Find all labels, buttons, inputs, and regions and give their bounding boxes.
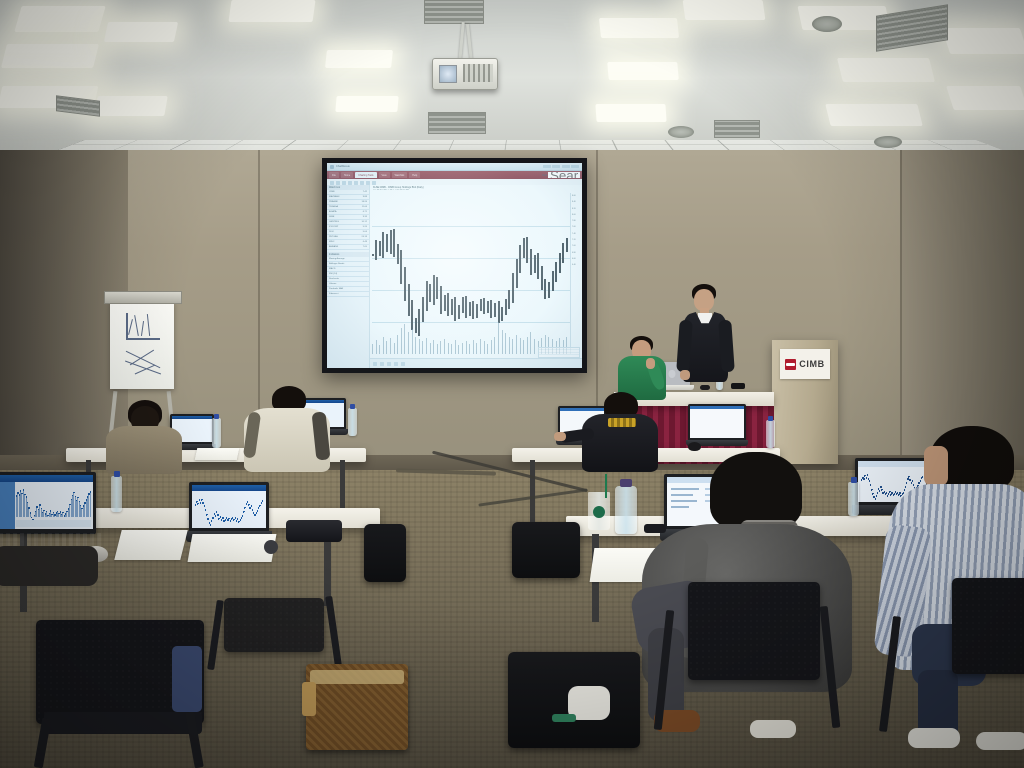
laptop-chart-point xyxy=(866,477,867,478)
volume-bar xyxy=(376,340,377,354)
laptop-chart-point xyxy=(197,503,198,504)
candlestick xyxy=(433,282,434,298)
candlestick xyxy=(498,306,499,318)
volume-bar xyxy=(458,345,459,354)
laptop-chart-point xyxy=(218,518,219,519)
starbucks-logo-icon xyxy=(593,506,605,518)
ribbon-tab-home[interactable]: Home xyxy=(341,172,353,178)
candlestick xyxy=(559,257,560,268)
candlestick xyxy=(422,303,423,316)
chair-seat[interactable] xyxy=(44,712,202,734)
sketch-trendline xyxy=(126,351,161,369)
candlestick xyxy=(401,258,402,276)
ceiling-light-panel xyxy=(104,22,178,42)
sketch-stroke xyxy=(134,315,139,336)
laptop-case[interactable] xyxy=(286,520,342,542)
chart-data-window xyxy=(538,347,580,358)
projection-screen-surface: ChartNexus File Home Charting Tools View… xyxy=(327,163,582,368)
laptop-chart-point xyxy=(30,512,31,513)
laptop-chart-point xyxy=(53,512,54,513)
laptop-chart-point xyxy=(226,517,227,518)
computer-mouse[interactable] xyxy=(688,442,701,451)
projector-cable xyxy=(458,22,464,62)
laptop-chart-point xyxy=(60,511,61,512)
candlestick xyxy=(383,239,384,253)
handbag-flap-trim xyxy=(310,670,404,684)
laptop-chart-point xyxy=(240,519,241,520)
app-window-title: ChartNexus xyxy=(336,165,350,168)
laptop-chart-point xyxy=(202,502,203,503)
volume-bar xyxy=(491,340,492,354)
chart-statusbar[interactable] xyxy=(370,358,582,368)
laptop-chart-point xyxy=(221,519,222,520)
shoe xyxy=(908,728,960,748)
volume-bar xyxy=(372,344,373,354)
ceiling-light-panel xyxy=(94,96,168,116)
handbag[interactable] xyxy=(306,664,408,750)
laptop-chart-point xyxy=(235,517,236,518)
ribbon-tab-file[interactable]: File xyxy=(329,172,339,178)
volume-bar xyxy=(448,343,449,354)
drinking-straw xyxy=(605,474,607,498)
candlestick xyxy=(509,295,510,305)
candlestick xyxy=(541,272,542,285)
laptop-chart-point xyxy=(205,509,206,510)
laptop-chart-point xyxy=(258,507,259,508)
laptop-chart-point xyxy=(26,496,27,497)
laptop-chart-point xyxy=(62,512,63,513)
laptop-chart-point xyxy=(201,499,202,500)
volume-bar xyxy=(430,343,431,354)
volume-bar xyxy=(527,337,528,354)
candlestick xyxy=(372,254,373,255)
sketch-axis xyxy=(126,338,160,340)
laptop-chart-point xyxy=(869,480,870,481)
candlestick xyxy=(408,292,409,309)
indicator-row[interactable]: Fibonacci xyxy=(327,292,369,297)
ceiling-light-panel xyxy=(599,18,679,38)
laptop-chart-point xyxy=(79,501,80,502)
podium: CIMB xyxy=(772,340,838,464)
shoe xyxy=(976,732,1024,750)
volume-bar xyxy=(520,338,521,354)
volume-bar xyxy=(484,341,485,354)
laptop-chart-point xyxy=(228,518,229,519)
candlestick xyxy=(516,266,517,282)
laptop-chart-point xyxy=(246,503,247,504)
volume-bar xyxy=(516,335,517,354)
draw-icon[interactable] xyxy=(373,362,377,366)
candlestick xyxy=(444,299,445,307)
laptop-chart-bar xyxy=(90,491,91,517)
sketch-stroke xyxy=(147,314,150,336)
air-vent-icon xyxy=(428,112,486,134)
sketch-stroke xyxy=(128,319,133,335)
laptop-chart-point xyxy=(222,517,223,518)
volume-bar xyxy=(512,339,513,354)
candlestick xyxy=(538,259,539,273)
ceiling-light-panel xyxy=(683,0,766,20)
volume-bar xyxy=(505,333,506,354)
candlestick xyxy=(527,243,528,257)
laptop-front-left[interactable] xyxy=(0,472,102,548)
candlestick xyxy=(455,303,456,316)
volume-bar xyxy=(415,337,416,354)
ceiling-light-panel xyxy=(14,6,105,32)
laptop-chart-point xyxy=(75,496,76,497)
flipchart-easel xyxy=(104,291,180,401)
candlestick xyxy=(466,301,467,313)
laptop-chart-point xyxy=(256,512,257,513)
ceiling-light-panel xyxy=(837,58,935,82)
laptop-chart-point xyxy=(259,505,260,506)
candlestick xyxy=(404,275,405,293)
watchlist-rows[interactable]: CIMB7.42MAYBANK9.88PBBANK18.26TENAGA11.0… xyxy=(327,190,369,250)
ceiling-speaker-icon xyxy=(874,136,902,148)
laptop-chart-point xyxy=(237,518,238,519)
chair-back-empty[interactable] xyxy=(224,598,324,652)
laptop-chart-point xyxy=(28,507,29,508)
price-axis: 8.608.408.208.007.807.607.407.207.006.80… xyxy=(570,193,582,354)
laptop-chart-point xyxy=(206,514,207,515)
volume-bar xyxy=(390,338,391,354)
laptop-chart-point xyxy=(80,505,81,506)
person-presenter-standing xyxy=(676,284,736,394)
laptop-chart-point xyxy=(46,511,47,512)
shoulder-graphic xyxy=(608,418,636,427)
laptop-chart-point xyxy=(211,520,212,521)
laptop-chart-point xyxy=(43,510,44,511)
laptop-chart-point xyxy=(251,505,252,506)
small-puck-device[interactable] xyxy=(264,540,278,554)
laptop-chart-point xyxy=(254,514,255,515)
app-logo-icon xyxy=(330,165,334,169)
laptop-chart-point xyxy=(212,517,213,518)
ceiling-light-panel xyxy=(825,104,922,126)
laptop-chart-point xyxy=(214,513,215,514)
cimb-wordmark: CIMB xyxy=(799,359,824,369)
ceiling-projector xyxy=(432,58,498,90)
candlestick xyxy=(523,243,524,254)
laptop-chart-point xyxy=(210,524,211,525)
candlestick xyxy=(566,242,567,249)
chart-gridline xyxy=(372,226,570,227)
water-bottle[interactable] xyxy=(111,476,122,512)
candlestick xyxy=(480,302,481,308)
flipchart-clamp xyxy=(104,291,182,304)
water-bottle[interactable] xyxy=(212,418,221,448)
volume-bar xyxy=(394,343,395,354)
volume-bar xyxy=(462,343,463,354)
starbucks-cup[interactable] xyxy=(588,492,610,530)
laptop-chart-point xyxy=(225,519,226,520)
laptop-chart-point xyxy=(23,489,24,490)
volume-bar xyxy=(487,344,488,354)
candlestick xyxy=(520,252,521,267)
volume-bar xyxy=(386,341,387,354)
laptop-chart-point xyxy=(242,515,243,516)
volume-bar xyxy=(437,344,438,354)
candlestick xyxy=(556,267,557,278)
volume-bar xyxy=(494,337,495,354)
laptop-chart-point xyxy=(20,490,21,491)
candlestick xyxy=(412,307,413,323)
candlestick xyxy=(426,288,427,304)
laptop-chart-point xyxy=(249,507,250,508)
person-attendee-tan-shirt xyxy=(106,400,182,472)
laptop-chart-point xyxy=(257,510,258,511)
volume-bar xyxy=(412,329,413,354)
volume-bar xyxy=(523,340,524,354)
volume-bar xyxy=(476,343,477,354)
chair-back[interactable] xyxy=(688,582,820,680)
air-vent-icon xyxy=(714,120,760,138)
volume-bar xyxy=(426,338,427,354)
candlestick xyxy=(419,315,420,329)
projector-body-detail xyxy=(463,64,493,82)
laptop-chart-point xyxy=(248,504,249,505)
cursor-icon[interactable] xyxy=(330,181,334,185)
candlestick xyxy=(491,304,492,314)
chart-host[interactable]: KLSE:CIMB - CIMB Group Holdings Bhd (Dai… xyxy=(370,185,582,368)
volume-bar xyxy=(455,340,456,354)
notepad[interactable] xyxy=(195,448,240,460)
candlestick xyxy=(545,283,546,294)
laptop-chart-point xyxy=(252,509,253,510)
candlestick xyxy=(548,285,549,293)
ceiling-light-panel xyxy=(595,104,666,122)
notebook-left[interactable] xyxy=(114,530,187,560)
air-vent-icon xyxy=(424,0,484,24)
zoom-icon[interactable] xyxy=(380,362,384,366)
app-body: Watch List CIMB7.42MAYBANK9.88PBBANK18.2… xyxy=(327,185,582,368)
laptop-chart-point xyxy=(241,517,242,518)
seminar-room-photo: ChartNexus File Home Charting Tools View… xyxy=(0,0,1024,768)
ceiling xyxy=(0,0,1024,172)
laptop-chart-point xyxy=(215,515,216,516)
watchlist-row[interactable]: AMBANK7.05 xyxy=(327,245,369,250)
candlestick xyxy=(476,307,477,314)
chart-header: KLSE:CIMB - CIMB Group Holdings Bhd (Dai… xyxy=(370,185,582,192)
candlestick xyxy=(505,303,506,311)
candlestick xyxy=(390,235,391,248)
volume-bar xyxy=(422,341,423,354)
window-controls[interactable] xyxy=(543,165,580,168)
laptop-chart-point xyxy=(867,474,868,475)
zoom-in-icon[interactable] xyxy=(354,181,358,185)
candlestick xyxy=(469,305,470,312)
chart-gridline xyxy=(372,322,570,323)
volume-bar xyxy=(444,339,445,354)
ceiling-speaker-icon xyxy=(668,126,694,138)
laptop-chart-point xyxy=(244,507,245,508)
candlestick xyxy=(448,299,449,311)
candlestick xyxy=(451,303,452,311)
ribbon-tab-watchlist[interactable]: Watchlist xyxy=(392,172,408,178)
ceiling-light-panel xyxy=(942,28,1024,54)
volume-bar xyxy=(509,337,510,354)
crosshair-tool-icon[interactable] xyxy=(387,362,391,366)
shoe xyxy=(750,720,796,738)
trendline-icon[interactable] xyxy=(336,181,340,185)
volume-bar xyxy=(451,344,452,354)
ceiling-light-panel xyxy=(607,62,679,80)
symbol-search-input[interactable] xyxy=(548,172,580,178)
zoom-out-icon[interactable] xyxy=(360,181,364,185)
candlestick xyxy=(415,322,416,329)
laptop-chart-point xyxy=(36,506,37,507)
volume-bar xyxy=(480,339,481,354)
volume-bar xyxy=(433,340,434,354)
person-assistant-green-polo xyxy=(616,336,670,400)
laptop-bag-centre[interactable] xyxy=(508,652,640,748)
crosshair-icon[interactable] xyxy=(366,181,370,185)
ceiling-light-panel xyxy=(228,0,315,22)
candlestick xyxy=(430,288,431,298)
ceiling-speaker-icon xyxy=(812,16,842,32)
laptop-chart-point xyxy=(77,497,78,498)
laptop-chart-point xyxy=(204,505,205,506)
chart-subtitle: O 7.38 H 7.46 L 7.34 C 7.42 Vol 12.6M xyxy=(373,189,579,191)
laptop-chart-point xyxy=(90,491,91,492)
indicator-icon[interactable] xyxy=(372,181,376,185)
app-titlebar: ChartNexus xyxy=(327,163,582,171)
watchlist-panel[interactable]: Watch List CIMB7.42MAYBANK9.88PBBANK18.2… xyxy=(327,185,370,368)
flipchart-paper xyxy=(110,301,174,389)
candlestick xyxy=(394,235,395,250)
candlestick xyxy=(397,249,398,259)
candlestick xyxy=(473,305,474,315)
candlestick xyxy=(386,239,387,249)
indicator-rows[interactable]: Moving AverageBollinger BandsMACDRSI (14… xyxy=(327,257,369,297)
laptop-chart-point xyxy=(253,512,254,513)
candlestick xyxy=(484,302,485,310)
water-bottle[interactable] xyxy=(348,408,357,436)
face-profile xyxy=(924,446,948,486)
volume-bar xyxy=(408,332,409,354)
fibonacci-icon[interactable] xyxy=(342,181,346,185)
laptop-chart-point xyxy=(39,504,40,505)
laptop-chart-point xyxy=(24,494,25,495)
laptop-chart-point xyxy=(216,511,217,512)
volume-bar xyxy=(379,345,380,354)
volume-bar xyxy=(498,322,499,354)
laptop-chart-point xyxy=(73,492,74,493)
projector-lens-icon xyxy=(439,65,457,83)
laptop-bag-table-left[interactable] xyxy=(512,522,580,578)
candlestick xyxy=(512,280,513,296)
volume-bar xyxy=(397,335,398,354)
laptop-chart-point xyxy=(863,478,864,479)
candlestick xyxy=(458,308,459,315)
bag-contents xyxy=(552,714,576,722)
chair-cushion xyxy=(172,646,202,712)
volume-bar xyxy=(440,341,441,354)
volume-bar xyxy=(404,324,405,354)
symbol-search-label: Find xyxy=(542,174,547,177)
projection-screen: ChartNexus File Home Charting Tools View… xyxy=(322,158,587,373)
candlestick xyxy=(437,282,438,294)
person-attendee-cream-top xyxy=(244,386,330,472)
cimb-mark-icon xyxy=(785,359,796,370)
compare-icon[interactable] xyxy=(394,362,398,366)
sketch-stroke xyxy=(141,321,144,336)
volume-bar xyxy=(466,341,467,354)
chair-back[interactable] xyxy=(952,578,1024,674)
water-bottle[interactable] xyxy=(766,420,775,448)
backpack[interactable] xyxy=(364,524,406,582)
volume-bar xyxy=(530,332,531,354)
laptop-chart-point xyxy=(195,504,196,505)
price-tick: 6.40 xyxy=(571,262,582,268)
candlestick xyxy=(462,301,463,309)
laptop-chart-point xyxy=(217,514,218,515)
ceiling-light-panel xyxy=(946,86,1024,110)
laptop-chart-point xyxy=(247,501,248,502)
volume-bar xyxy=(401,328,402,354)
laptop-chart-point xyxy=(41,508,42,509)
symbol-search[interactable]: Find xyxy=(542,172,580,178)
ceiling-light-panel xyxy=(325,50,393,68)
text-icon[interactable] xyxy=(348,181,352,185)
candlestick xyxy=(440,293,441,308)
laptop-chart-point xyxy=(868,478,869,479)
candlestick xyxy=(563,248,564,259)
volume-bar xyxy=(473,340,474,354)
laptop-chart-point xyxy=(220,516,221,517)
sketch-axis xyxy=(126,313,128,339)
ceiling-light-panel xyxy=(335,96,398,112)
ribbon-tab-help[interactable]: Help xyxy=(409,172,420,178)
ceiling-light-panel xyxy=(1,44,99,68)
volume-bar xyxy=(469,344,470,354)
charting-application-window: ChartNexus File Home Charting Tools View… xyxy=(327,163,582,368)
candlestick xyxy=(376,245,377,256)
projector-cable xyxy=(466,24,473,62)
volume-bar xyxy=(534,339,535,354)
handbag-buckle xyxy=(302,682,316,716)
candlestick xyxy=(530,255,531,269)
ribbon-tab-charting-tools[interactable]: Charting Tools xyxy=(355,172,376,178)
laptop-chart-point xyxy=(200,502,201,503)
ribbon-tab-view[interactable]: View xyxy=(379,172,390,178)
candlestick xyxy=(502,310,503,317)
candlestick xyxy=(487,304,488,310)
laptop-chart-point xyxy=(262,500,263,501)
candlestick xyxy=(379,245,380,252)
candlestick xyxy=(494,306,495,313)
cimb-logo-plate: CIMB xyxy=(780,349,830,379)
wall-seam xyxy=(900,150,902,460)
laptop-chart-point xyxy=(199,499,200,500)
volume-bar xyxy=(383,337,384,354)
candlestick xyxy=(552,276,553,287)
laptop-chart-point xyxy=(50,510,51,511)
period-icon[interactable] xyxy=(401,362,405,366)
laptop-chart-point xyxy=(27,502,28,503)
app-ribbon: File Home Charting Tools View Watchlist … xyxy=(327,171,582,179)
laptop-chart-point xyxy=(243,511,244,512)
candlestick xyxy=(534,259,535,269)
table-leg xyxy=(530,460,535,522)
laptop-chart-point xyxy=(207,518,208,519)
volume-bar xyxy=(502,330,503,354)
laptop-chart-point xyxy=(57,511,58,512)
chart-plot-area[interactable] xyxy=(372,194,570,354)
volume-bar xyxy=(419,339,420,354)
